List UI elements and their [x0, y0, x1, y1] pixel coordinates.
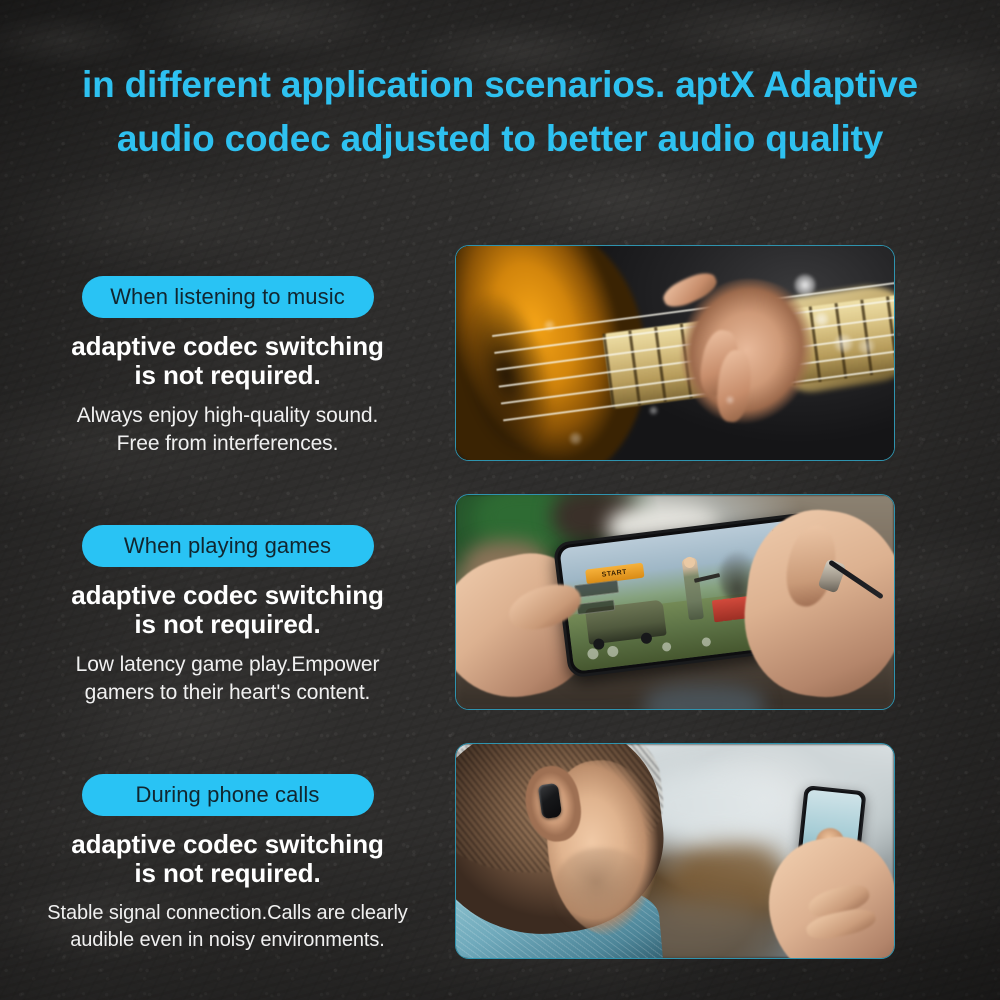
feature-subtext-gaming: Low latency game play.Empower gamers to … — [76, 651, 380, 706]
feature-photo-guitar — [455, 245, 895, 461]
feature-row-calls: During phone calls adaptive codec switch… — [0, 738, 1000, 964]
bokeh-highlight-3 — [834, 334, 853, 353]
feature-subtext-calls: Stable signal connection.Calls are clear… — [47, 900, 407, 953]
feature-headline-calls: adaptive codec switching is not required… — [71, 830, 384, 888]
mans-beard-shadow — [554, 848, 650, 934]
feature-text-calls: During phone calls adaptive codec switch… — [20, 738, 435, 964]
game-character-head — [683, 556, 695, 568]
feature-headline-line-1: adaptive codec switching — [71, 581, 384, 610]
product-feature-banner: in different application scenarios. aptX… — [0, 0, 1000, 1000]
feature-row-gaming: When playing games adaptive codec switch… — [0, 489, 1000, 715]
feature-row-music: When listening to music adaptive codec s… — [0, 240, 1000, 466]
feature-text-gaming: When playing games adaptive codec switch… — [20, 489, 435, 715]
gaming-scene: START — [456, 495, 894, 709]
bokeh-highlight-4 — [858, 338, 875, 355]
blurred-foreground-object — [644, 685, 764, 710]
bokeh-highlight-5 — [649, 406, 658, 415]
bokeh-highlight-1 — [794, 274, 816, 296]
feature-headline-line-2: is not required. — [71, 610, 384, 639]
feature-subtext-music: Always enjoy high-quality sound. Free fr… — [77, 402, 378, 457]
bokeh-highlight-8 — [726, 396, 734, 404]
feature-headline-music: adaptive codec switching is not required… — [71, 332, 384, 390]
bokeh-highlight-6 — [569, 432, 582, 445]
feature-photo-call — [455, 743, 895, 959]
feature-headline-line-1: adaptive codec switching — [71, 332, 384, 361]
page-title: in different application scenarios. aptX… — [0, 58, 1000, 165]
bokeh-highlight-7 — [544, 320, 555, 331]
feature-subtext-line-2: audible even in noisy environments. — [47, 927, 407, 953]
headline-line-2: audio codec adjusted to better audio qua… — [22, 112, 978, 166]
scenario-badge-calls[interactable]: During phone calls — [82, 774, 374, 816]
feature-subtext-line-1: Always enjoy high-quality sound. — [77, 402, 378, 430]
feature-headline-line-1: adaptive codec switching — [71, 830, 384, 859]
feature-text-music: When listening to music adaptive codec s… — [20, 240, 435, 466]
feature-subtext-line-2: gamers to their heart's content. — [76, 679, 380, 707]
feature-subtext-line-1: Low latency game play.Empower — [76, 651, 380, 679]
feature-headline-line-2: is not required. — [71, 859, 384, 888]
guitar-scene — [456, 246, 894, 460]
feature-subtext-line-2: Free from interferences. — [77, 430, 378, 458]
call-scene — [456, 744, 894, 958]
feature-photo-gaming: START — [455, 494, 895, 710]
headline-line-1: in different application scenarios. aptX… — [22, 58, 978, 112]
bokeh-highlight-2 — [814, 312, 829, 327]
scenario-badge-gaming[interactable]: When playing games — [82, 525, 374, 567]
scenario-badge-music[interactable]: When listening to music — [82, 276, 374, 318]
feature-headline-line-2: is not required. — [71, 361, 384, 390]
feature-headline-gaming: adaptive codec switching is not required… — [71, 581, 384, 639]
game-hud-topleft — [574, 580, 619, 598]
feature-subtext-line-1: Stable signal connection.Calls are clear… — [47, 900, 407, 926]
